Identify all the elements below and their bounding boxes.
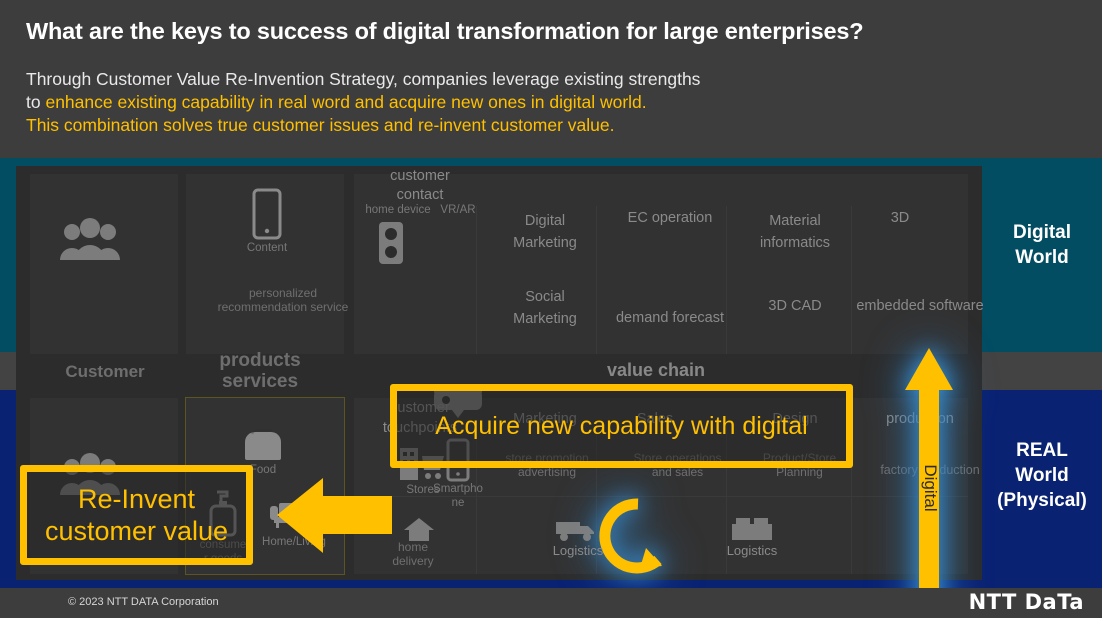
label-personalized-line1: personalized <box>198 286 368 300</box>
label-social-marketing: Social Marketing <box>495 286 595 330</box>
label-vr-ar: VR/AR <box>430 204 486 216</box>
label-3d-cad: 3D CAD <box>755 298 835 314</box>
label-embedded-software: embedded software <box>855 298 985 314</box>
reinvent-left-arrow <box>277 478 392 553</box>
label-digital-marketing-line2: Marketing <box>495 232 595 254</box>
home-device-icon <box>375 220 407 266</box>
label-digital-marketing-line1: Digital <box>495 210 595 232</box>
divider <box>476 206 477 354</box>
label-logistics-right: Logistics <box>702 543 802 558</box>
people-group-icon <box>58 218 122 262</box>
label-material-line1: Material <box>745 210 845 232</box>
label-material-informatics: Material informatics <box>745 210 845 254</box>
real-world-label: REAL World (Physical) <box>982 438 1102 513</box>
label-demand-forecast: demand forecast <box>605 310 735 326</box>
label-customer-contact-line1: customer <box>370 167 470 186</box>
watermark-customer: Customer <box>38 361 172 382</box>
label-content: Content <box>236 242 298 254</box>
slide-root: What are the keys to success of digital … <box>0 0 1102 618</box>
label-smartphone-line2: ne <box>428 496 488 510</box>
subtitle: Through Customer Value Re-Invention Stra… <box>26 68 700 137</box>
callout-reinvent-line1: Re-Invent <box>78 483 195 515</box>
callout-reinvent-line2: customer value <box>45 515 228 547</box>
divider <box>596 206 597 354</box>
warehouse-icon <box>730 516 774 542</box>
subtitle-line-3: This combination solves true customer is… <box>26 114 700 137</box>
bread-food-icon <box>240 428 286 462</box>
ntt-data-logo: NTT DaTa <box>969 590 1084 614</box>
label-material-line2: informatics <box>745 232 845 254</box>
real-world-label-line1: REAL <box>982 438 1102 463</box>
callout-acquire-new-capability: Acquire new capability with digital <box>390 384 853 468</box>
truck-icon <box>554 518 600 542</box>
label-personalized-recommendation: personalized recommendation service <box>198 286 368 314</box>
panel-customer-digital <box>30 174 178 354</box>
label-digital-marketing: Digital Marketing <box>495 210 595 254</box>
label-social-marketing-line2: Marketing <box>495 308 595 330</box>
label-stores: Stores <box>396 484 450 496</box>
label-logistics-mid: Logistics <box>530 543 626 558</box>
label-3d: 3D <box>878 210 922 226</box>
watermark-products-line2: services <box>190 371 330 392</box>
divider <box>726 206 727 354</box>
label-ec-operation: EC operation <box>610 210 730 226</box>
subtitle-line-1: Through Customer Value Re-Invention Stra… <box>26 68 700 91</box>
copyright-text: © 2023 NTT DATA Corporation <box>68 596 219 608</box>
digital-world-label-line1: Digital <box>982 220 1102 245</box>
digital-world-label: Digital World <box>982 220 1102 270</box>
divider <box>851 206 852 354</box>
page-title: What are the keys to success of digital … <box>26 18 863 45</box>
digital-world-label-line2: World <box>982 245 1102 270</box>
label-customer-contact: customer contact <box>370 167 470 205</box>
real-world-label-line3: (Physical) <box>982 488 1102 513</box>
content-smartphone-icon <box>252 188 282 240</box>
home-delivery-icon <box>402 516 436 542</box>
callout-acquire-text: Acquire new capability with digital <box>435 412 807 441</box>
label-social-marketing-line1: Social <box>495 286 595 308</box>
label-personalized-line2: recommendation service <box>198 300 368 314</box>
value-chain-circular-arrow-icon <box>596 494 680 578</box>
diagram: Digital World REAL World (Physical) <box>0 158 1102 588</box>
watermark-products-services: products services <box>190 350 330 392</box>
subtitle-line-2-plain: to <box>26 92 45 112</box>
subtitle-line-2-highlight: enhance existing capability in real word… <box>45 92 646 112</box>
label-customer-contact-line2: contact <box>370 186 470 205</box>
real-world-label-line2: World <box>982 463 1102 488</box>
callout-reinvent-customer-value: Re-Invent customer value <box>20 465 253 565</box>
label-home-delivery-line2: delivery <box>368 554 458 568</box>
vertical-arrow-label: Digital <box>920 448 940 528</box>
watermark-value-chain: value chain <box>576 360 736 381</box>
watermark-products-line1: products <box>190 350 330 371</box>
label-home-device: home device <box>358 204 438 216</box>
header: What are the keys to success of digital … <box>0 0 1102 158</box>
subtitle-line-2: to enhance existing capability in real w… <box>26 91 700 114</box>
